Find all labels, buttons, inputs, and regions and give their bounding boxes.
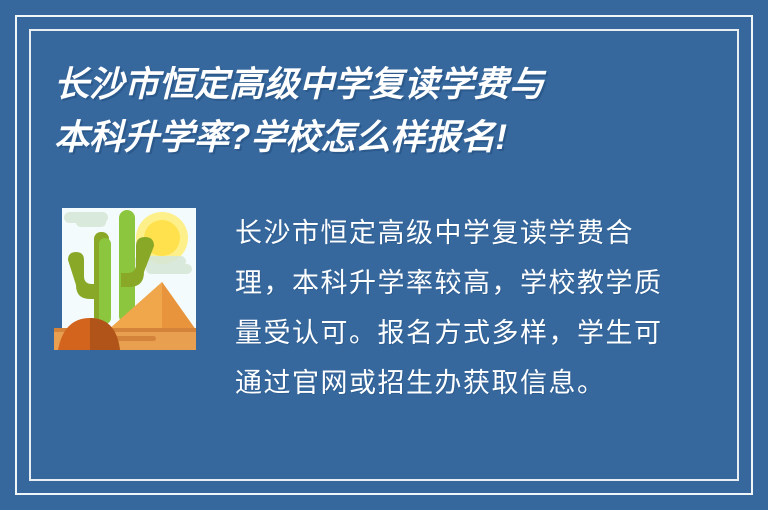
page-title: 长沙市恒定高级中学复读学费与 本科升学率?学校怎么样报名! <box>54 58 704 164</box>
page-title-line-1: 长沙市恒定高级中学复读学费与 <box>54 58 704 111</box>
desert-cactus-scene-icon <box>50 208 208 356</box>
body-paragraph: 长沙市恒定高级中学复读学费合理，本科升学率较高，学校教学质量受认可。报名方式多样… <box>235 208 667 408</box>
promo-card: 长沙市恒定高级中学复读学费与 本科升学率?学校怎么样报名! <box>0 0 768 510</box>
content-area: 长沙市恒定高级中学复读学费合理，本科升学率较高，学校教学质量受认可。报名方式多样… <box>40 200 728 470</box>
page-title-line-2: 本科升学率?学校怎么样报名! <box>54 111 704 164</box>
